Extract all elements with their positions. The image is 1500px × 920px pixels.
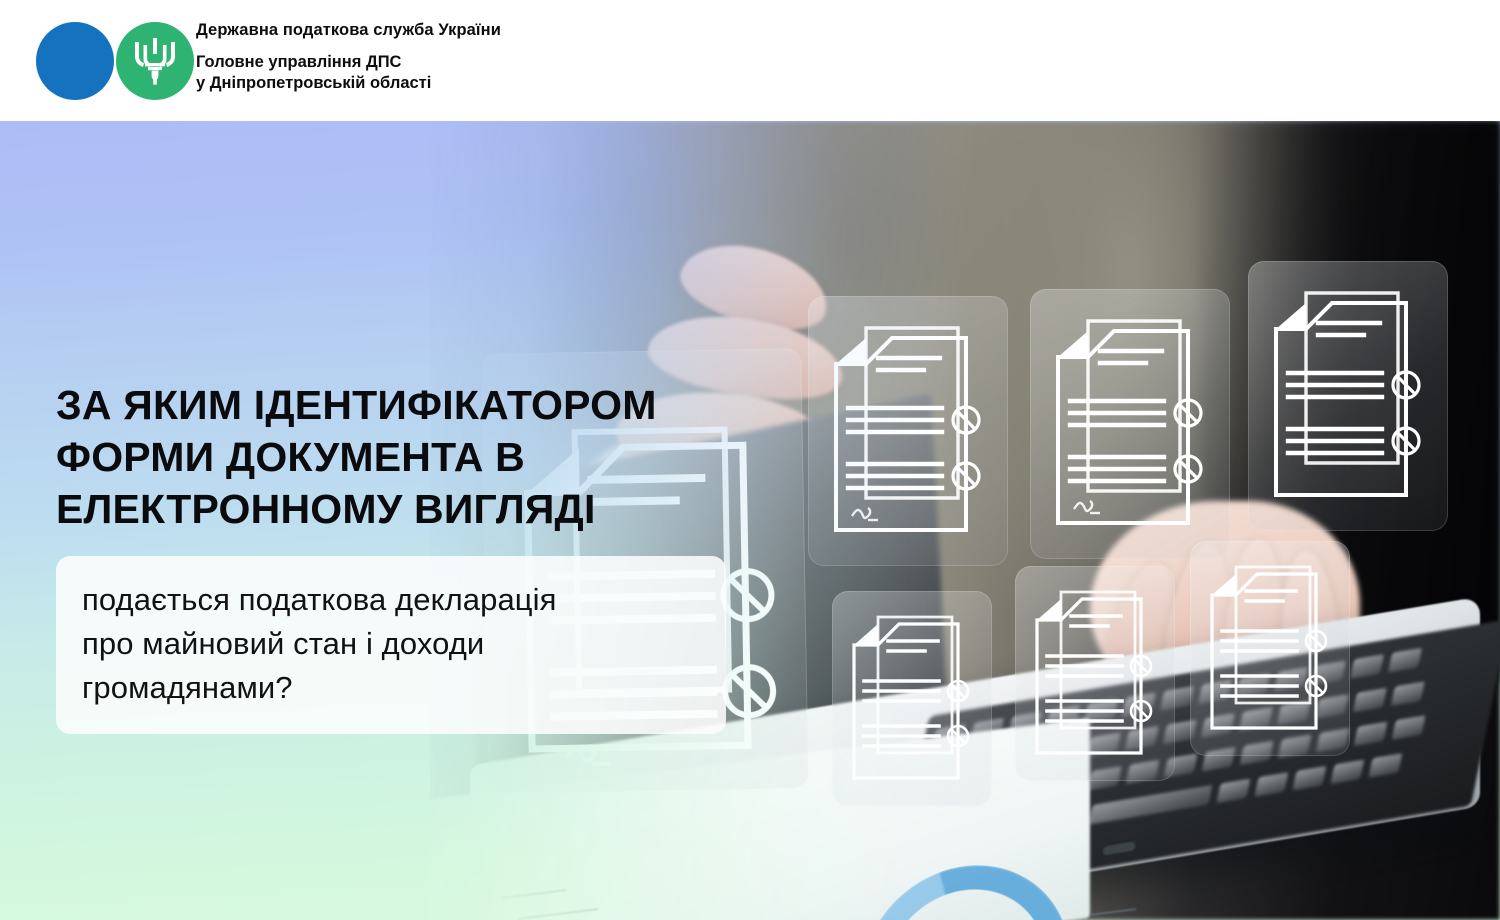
department-line-1: Головне управління ДПС	[196, 53, 401, 71]
header-text-block: Державна податкова служба України Головн…	[196, 20, 501, 94]
doc-card-2[interactable]	[808, 296, 1008, 566]
subtitle-line-1: подається податкова декларація	[82, 578, 700, 622]
headline-line-1: ЗА ЯКИМ ІДЕНТИФІКАТОРОМ	[56, 379, 796, 431]
document-icon-6	[1015, 566, 1175, 781]
tryzub-icon	[132, 36, 178, 86]
department-line-2: у Дніпропетровській області	[196, 74, 431, 92]
headline-line-2: ФОРМИ ДОКУМЕНТА В	[56, 431, 796, 483]
site-header: Державна податкова служба України Головн…	[0, 0, 1500, 121]
doc-card-4[interactable]	[1248, 261, 1448, 531]
subtitle-line-2: про майновий стан і доходи	[82, 622, 700, 666]
dps-logo	[36, 22, 186, 100]
logo-blue-circle-icon	[36, 22, 114, 100]
document-icon-7	[1190, 541, 1350, 756]
department-name: Головне управління ДПС у Дніпропетровськ…	[196, 52, 501, 94]
doc-card-7[interactable]	[1190, 541, 1350, 756]
document-icon-5	[832, 591, 992, 806]
organization-name: Державна податкова служба України	[196, 20, 501, 40]
doc-card-6[interactable]	[1015, 566, 1175, 781]
document-icon-4	[1248, 261, 1448, 531]
banner-headline: ЗА ЯКИМ ІДЕНТИФІКАТОРОМ ФОРМИ ДОКУМЕНТА …	[56, 379, 796, 535]
document-icon-3	[1030, 289, 1230, 559]
doc-card-5[interactable]	[832, 591, 992, 806]
headline-line-3: ЕЛЕКТРОННОМУ ВИГЛЯДІ	[56, 483, 796, 535]
doc-card-3[interactable]	[1030, 289, 1230, 559]
usb-port-2	[1102, 839, 1136, 856]
banner-subtitle-box: подається податкова декларація про майно…	[56, 556, 726, 734]
banner-stage: ЗА ЯКИМ ІДЕНТИФІКАТОРОМ ФОРМИ ДОКУМЕНТА …	[0, 121, 1500, 920]
document-icon-2	[808, 296, 1008, 566]
subtitle-line-3: громадянами?	[82, 666, 700, 710]
